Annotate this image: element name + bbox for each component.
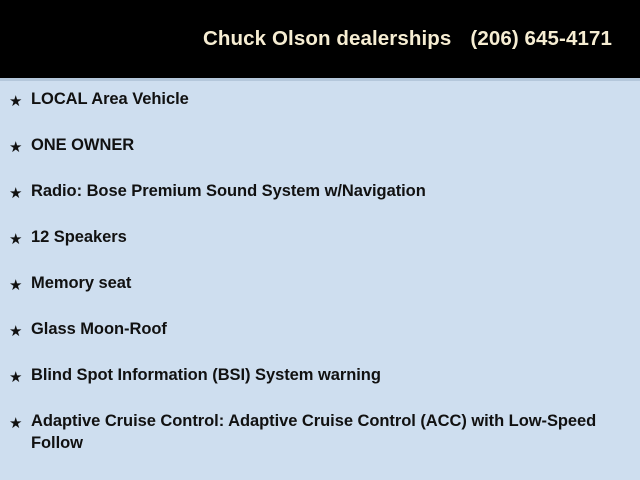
feature-label: ONE OWNER — [31, 134, 134, 156]
feature-label: Blind Spot Information (BSI) System warn… — [31, 364, 381, 386]
star-icon: ★ — [9, 276, 25, 295]
list-item: ★ LOCAL Area Vehicle — [0, 88, 640, 134]
dealership-phone-number: (206) 645-4171 — [470, 27, 612, 51]
feature-label: Memory seat — [31, 272, 131, 294]
star-icon: ★ — [9, 368, 25, 387]
feature-label: 12 Speakers — [31, 226, 127, 248]
vehicle-feature-list: ★ LOCAL Area Vehicle ★ ONE OWNER ★ Radio… — [0, 88, 640, 456]
feature-label: Adaptive Cruise Control: Adaptive Cruise… — [31, 410, 630, 454]
star-icon: ★ — [9, 414, 25, 433]
star-icon: ★ — [9, 138, 25, 157]
star-icon: ★ — [9, 92, 25, 111]
feature-label: Glass Moon-Roof — [31, 318, 167, 340]
star-icon: ★ — [9, 322, 25, 341]
header-divider — [0, 78, 640, 81]
feature-label: Radio: Bose Premium Sound System w/Navig… — [31, 180, 426, 202]
feature-label: LOCAL Area Vehicle — [31, 88, 189, 110]
star-icon: ★ — [9, 230, 25, 249]
dealership-name: Chuck Olson dealerships — [203, 27, 451, 51]
star-icon: ★ — [9, 184, 25, 203]
header-content: Chuck Olson dealerships (206) 645-4171 — [203, 27, 640, 51]
list-item: ★ ONE OWNER — [0, 134, 640, 180]
list-item: ★ Radio: Bose Premium Sound System w/Nav… — [0, 180, 640, 226]
list-item: ★ Glass Moon-Roof — [0, 318, 640, 364]
list-item: ★ Memory seat — [0, 272, 640, 318]
list-item: ★ Blind Spot Information (BSI) System wa… — [0, 364, 640, 410]
list-item: ★ Adaptive Cruise Control: Adaptive Crui… — [0, 410, 640, 456]
list-item: ★ 12 Speakers — [0, 226, 640, 272]
vehicle-features-slide: Chuck Olson dealerships (206) 645-4171 ★… — [0, 0, 640, 480]
dealership-header-banner: Chuck Olson dealerships (206) 645-4171 — [0, 0, 640, 78]
